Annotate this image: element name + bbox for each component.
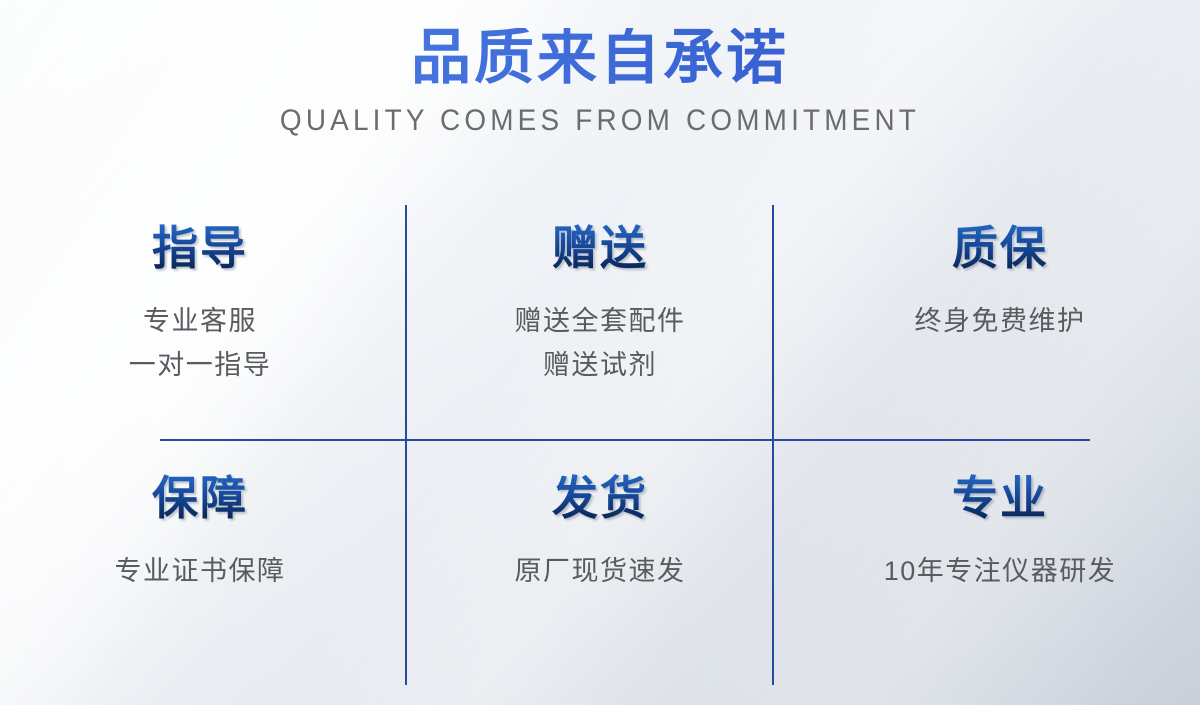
horizontal-divider	[160, 439, 1090, 441]
feature-heading: 质保	[952, 224, 1048, 272]
vertical-divider	[405, 205, 407, 685]
feature-body-line-2: 一对一指导	[129, 344, 272, 388]
vertical-divider	[772, 205, 774, 685]
feature-body-line-1: 终身免费维护	[915, 306, 1086, 336]
feature-body: 赠送全套配件 赠送试剂	[515, 300, 686, 387]
feature-cell-guidance: 指导 专业客服 一对一指导	[0, 200, 400, 446]
feature-cell-expertise: 专业 10年专注仪器研发	[800, 446, 1200, 692]
page-subtitle: QUALITY COMES FROM COMMITMENT	[42, 104, 1158, 138]
feature-body: 专业客服 一对一指导	[129, 300, 272, 387]
feature-grid: 指导 专业客服 一对一指导 赠送 赠送全套配件 赠送试剂 质保 终身免费维护 保…	[0, 200, 1200, 692]
feature-body-line-1: 赠送全套配件	[515, 306, 686, 336]
feature-body-line-1: 原厂现货速发	[515, 556, 686, 586]
feature-body-line-1: 专业证书保障	[115, 556, 286, 586]
feature-cell-shipping: 发货 原厂现货速发	[400, 446, 800, 692]
feature-body: 专业证书保障	[115, 550, 286, 594]
feature-body-line-1: 专业客服	[143, 306, 257, 336]
feature-heading: 指导	[152, 224, 248, 272]
feature-heading: 赠送	[552, 224, 648, 272]
feature-heading: 专业	[952, 474, 1048, 522]
feature-body: 原厂现货速发	[515, 550, 686, 594]
feature-cell-warranty: 质保 终身免费维护	[800, 200, 1200, 446]
feature-body-line-2: 赠送试剂	[515, 344, 686, 388]
banner-header: 品质来自承诺 QUALITY COMES FROM COMMITMENT	[0, 28, 1200, 138]
feature-heading: 保障	[152, 474, 248, 522]
quality-commitment-banner: 品质来自承诺 QUALITY COMES FROM COMMITMENT 指导 …	[0, 0, 1200, 705]
page-title: 品质来自承诺	[0, 28, 1200, 88]
feature-body: 10年专注仪器研发	[884, 550, 1117, 594]
feature-cell-gift: 赠送 赠送全套配件 赠送试剂	[400, 200, 800, 446]
feature-heading: 发货	[552, 474, 648, 522]
feature-body-line-1: 10年专注仪器研发	[884, 556, 1117, 586]
feature-cell-assurance: 保障 专业证书保障	[0, 446, 400, 692]
feature-body: 终身免费维护	[915, 300, 1086, 344]
